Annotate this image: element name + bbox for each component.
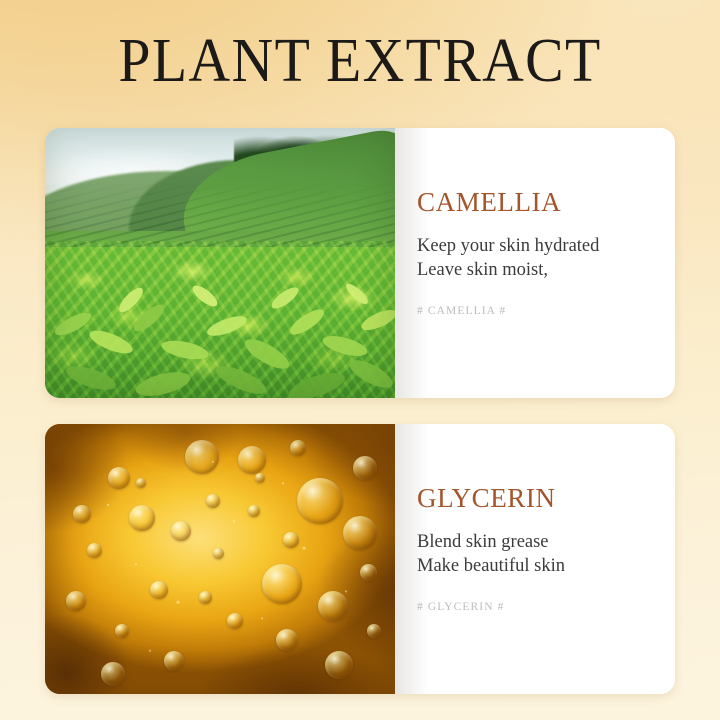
ingredient-name-camellia: CAMELLIA [417,186,675,218]
photo-vignette [45,424,395,694]
ingredient-tag-glycerin: # GLYCERIN # [417,600,675,614]
ingredient-tag-camellia: # CAMELLIA # [417,304,675,318]
tea-plantation-photo [45,128,395,398]
page-title: PLANT EXTRACT [25,26,695,96]
golden-oil-bubbles-photo [45,424,395,694]
glycerin-text-panel: GLYCERIN Blend skin grease Make beautifu… [395,424,675,694]
ingredient-description-glycerin: Blend skin grease Make beautiful skin [417,530,675,578]
ingredient-name-glycerin: GLYCERIN [417,482,675,514]
tea-photo-canvas [45,128,395,398]
photo-vignette [45,128,395,398]
camellia-text-panel: CAMELLIA Keep your skin hydrated Leave s… [395,128,675,398]
ingredient-description-camellia: Keep your skin hydrated Leave skin moist… [417,234,675,282]
oil-photo-canvas [45,424,395,694]
ingredient-card-glycerin[interactable]: GLYCERIN Blend skin grease Make beautifu… [45,424,675,694]
ingredient-card-camellia[interactable]: CAMELLIA Keep your skin hydrated Leave s… [45,128,675,398]
